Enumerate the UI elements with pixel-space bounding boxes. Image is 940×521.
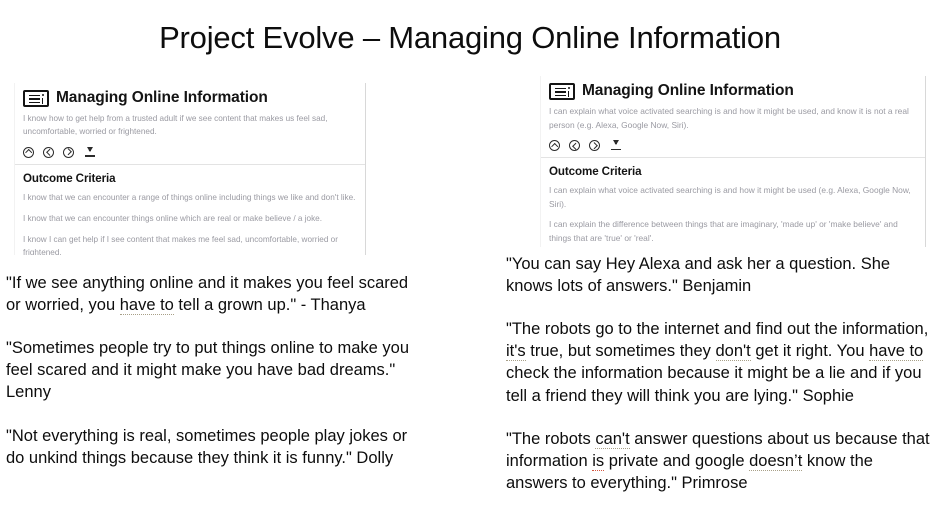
quote-paragraph: "Not everything is real, sometimes peopl… [6,425,416,469]
card-description: I know how to get help from a trusted ad… [23,112,357,139]
quote-paragraph: "You can say Hey Alexa and ask her a que… [506,253,931,297]
card-header: Managing Online Information [23,89,357,107]
chevron-right-circle-icon[interactable] [589,140,600,151]
quote-paragraph: "The robots can't answer questions about… [506,428,931,494]
card-title: Managing Online Information [56,89,268,107]
chevron-left-circle-icon[interactable] [569,140,580,151]
quote-paragraph: "If we see anything online and it makes … [6,272,416,316]
criteria-item: I can explain the difference between thi… [549,218,917,245]
criteria-heading: Outcome Criteria [23,172,357,185]
chevron-left-circle-icon[interactable] [43,147,54,158]
quote-paragraph: "The robots go to the internet and find … [506,318,931,406]
spelling-underline: is [592,452,604,471]
download-icon[interactable] [611,140,621,151]
chevron-up-circle-icon[interactable] [23,147,34,158]
chevron-right-circle-icon[interactable] [63,147,74,158]
card-toolbar [23,147,357,158]
card-divider [541,157,925,158]
list-badge-icon [23,90,49,107]
resource-card-right: Managing Online Information I can explai… [540,76,926,247]
quote-paragraph: "Sometimes people try to put things onli… [6,337,416,403]
page-title: Project Evolve – Managing Online Informa… [0,20,940,56]
card-title: Managing Online Information [582,82,794,100]
grammar-underline: it's [506,342,526,361]
grammar-underline: have to [120,296,174,315]
card-description: I can explain what voice activated searc… [549,105,917,132]
criteria-heading: Outcome Criteria [549,165,917,178]
criteria-item: I can explain what voice activated searc… [549,184,917,211]
grammar-underline: have to [869,342,923,361]
resource-card-left: Managing Online Information I know how t… [14,83,366,255]
download-icon[interactable] [85,147,95,158]
quotes-column-right: "You can say Hey Alexa and ask her a que… [506,253,931,494]
list-badge-icon [549,83,575,100]
chevron-up-circle-icon[interactable] [549,140,560,151]
criteria-item: I know that we can encounter things onli… [23,212,357,225]
grammar-underline: doesn’t [749,452,802,471]
card-toolbar [549,140,917,151]
card-divider [15,164,365,165]
quotes-column-left: "If we see anything online and it makes … [6,272,416,469]
card-header: Managing Online Information [549,82,917,100]
grammar-underline: can't [595,430,629,449]
criteria-item: I know I can get help if I see content t… [23,233,357,255]
criteria-item: I know that we can encounter a range of … [23,191,357,204]
grammar-underline: don't [716,342,751,361]
